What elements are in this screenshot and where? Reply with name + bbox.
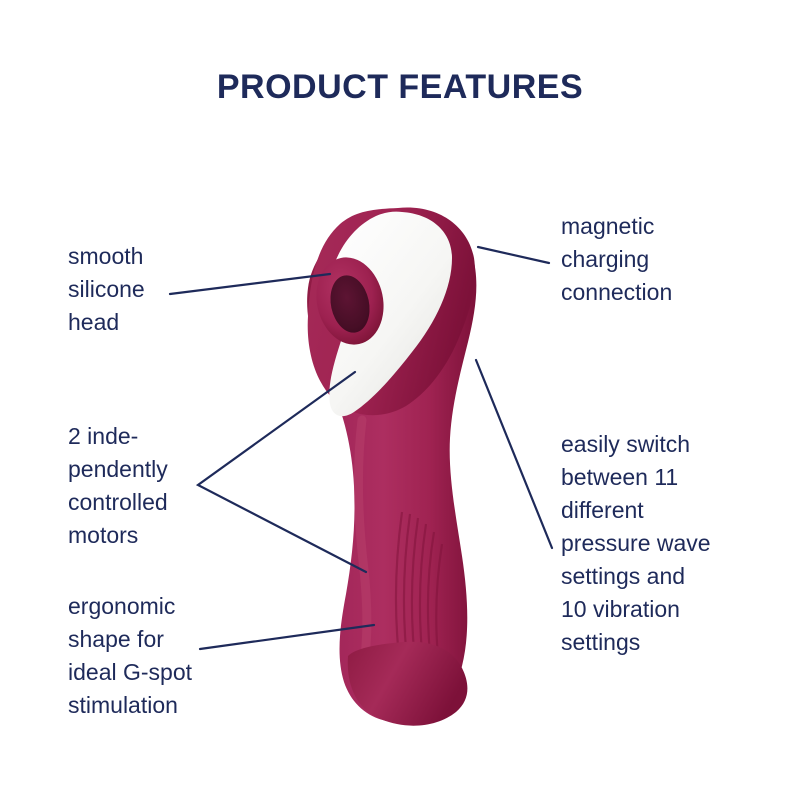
callout-magnetic-charging: magnetic charging connection: [561, 210, 781, 309]
callout-independent-motors: 2 inde- pendently controlled motors: [68, 420, 258, 552]
callout-smooth-silicone-head: smooth silicone head: [68, 240, 248, 339]
product-features-infographic: PRODUCT FEATURES: [0, 0, 800, 800]
leader-magnetic-charging: [478, 247, 549, 263]
leader-settings: [476, 360, 552, 548]
callout-ergonomic-shape: ergonomic shape for ideal G-spot stimula…: [68, 590, 283, 722]
callout-settings: easily switch between 11 different press…: [561, 428, 786, 659]
